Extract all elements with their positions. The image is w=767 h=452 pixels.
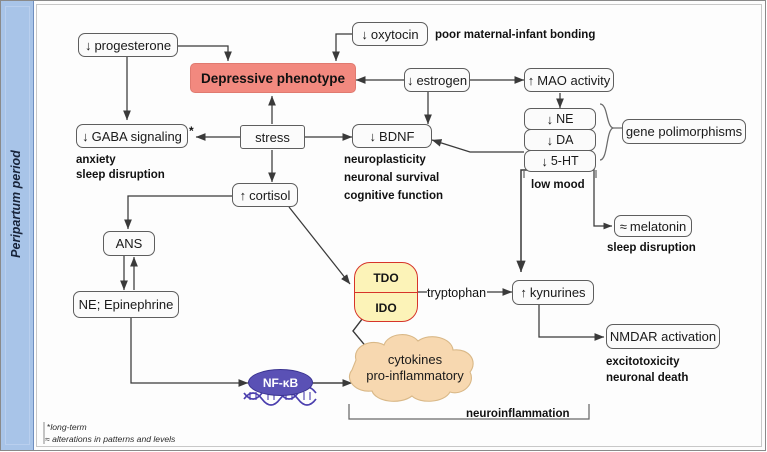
caption-bdnf-effect-2: neuronal survival bbox=[344, 170, 439, 186]
node-cytokines-line2: pro-inflammatory bbox=[366, 368, 464, 384]
down-arrow-icon: ↓ bbox=[407, 74, 414, 87]
node-ido-label: IDO bbox=[355, 293, 417, 322]
node-mao-activity[interactable]: ↑ MAO activity bbox=[524, 68, 614, 92]
node-5ht-label: 5-HT bbox=[551, 154, 579, 168]
footnote-long-term-text: long-term bbox=[50, 422, 86, 432]
node-nmdar-activation[interactable]: NMDAR activation bbox=[606, 324, 720, 349]
edge-label-tryptophan: tryptophan bbox=[427, 285, 486, 303]
node-melatonin[interactable]: ≈ melatonin bbox=[614, 215, 692, 237]
caption-gaba-effect-1: anxiety bbox=[76, 152, 116, 168]
node-da-label: DA bbox=[556, 133, 573, 147]
node-da[interactable]: ↓ DA bbox=[524, 129, 596, 151]
down-arrow-icon: ↓ bbox=[541, 155, 548, 168]
footnote-approx-marker: ≈ bbox=[45, 434, 50, 444]
node-kynurines[interactable]: ↑ kynurines bbox=[512, 280, 594, 305]
peripartum-period-band: Peripartum period bbox=[1, 1, 34, 450]
down-arrow-icon: ↓ bbox=[85, 39, 92, 52]
node-cortisol-label: cortisol bbox=[249, 188, 290, 203]
caption-gaba-effect-2: sleep disruption bbox=[76, 167, 165, 183]
node-tdo-label: TDO bbox=[355, 263, 417, 293]
node-ans-label: ANS bbox=[116, 236, 143, 251]
footnote-alterations-text: alterations in patterns and levels bbox=[52, 434, 175, 444]
caption-nmdar-effect-1: excitotoxicity bbox=[606, 354, 680, 370]
node-cytokines-line1: cytokines bbox=[388, 352, 442, 368]
footnote-alterations: ≈ alterations in patterns and levels bbox=[45, 433, 175, 446]
down-arrow-icon: ↓ bbox=[370, 130, 377, 143]
node-melatonin-label: melatonin bbox=[630, 219, 686, 234]
node-bdnf[interactable]: ↓ BDNF bbox=[352, 124, 432, 148]
node-oxytocin[interactable]: ↓ oxytocin bbox=[352, 22, 428, 46]
node-stress-label: stress bbox=[255, 130, 290, 145]
node-depressive-phenotype[interactable]: Depressive phenotype bbox=[190, 63, 356, 93]
down-arrow-icon: ↓ bbox=[361, 28, 368, 41]
caption-melatonin-effect: sleep disruption bbox=[607, 240, 696, 256]
diagram-canvas: Peripartum period bbox=[0, 0, 767, 452]
node-progesterone[interactable]: ↓ progesterone bbox=[78, 33, 178, 57]
caption-nmdar-effect-2: neuronal death bbox=[606, 370, 688, 386]
caption-bdnf-effect-3: cognitive function bbox=[344, 188, 443, 204]
node-progesterone-label: progesterone bbox=[94, 38, 171, 53]
node-nmdar-activation-label: NMDAR activation bbox=[610, 329, 716, 344]
node-estrogen-label: estrogen bbox=[416, 73, 467, 88]
node-ne-epinephrine[interactable]: NE; Epinephrine bbox=[73, 291, 179, 318]
node-bdnf-label: BDNF bbox=[379, 129, 414, 144]
node-estrogen[interactable]: ↓ estrogen bbox=[404, 68, 470, 92]
gaba-asterisk-marker: * bbox=[189, 124, 194, 138]
node-mao-activity-label: MAO activity bbox=[537, 73, 610, 88]
up-arrow-icon: ↑ bbox=[528, 74, 535, 87]
node-gene-polymorphisms[interactable]: gene polimorphisms bbox=[622, 119, 746, 144]
node-ne-epinephrine-label: NE; Epinephrine bbox=[79, 297, 174, 312]
node-stress[interactable]: stress bbox=[240, 125, 305, 149]
node-5ht[interactable]: ↓ 5-HT bbox=[524, 150, 596, 172]
caption-low-mood: low mood bbox=[531, 177, 585, 193]
down-arrow-icon: ↓ bbox=[82, 130, 89, 143]
node-cytokines-cloud[interactable]: cytokines pro-inflammatory bbox=[345, 330, 485, 406]
down-arrow-icon: ↓ bbox=[547, 134, 554, 147]
up-arrow-icon: ↑ bbox=[520, 286, 527, 299]
node-nf-kb[interactable]: NF-κB bbox=[248, 369, 313, 396]
caption-oxytocin-effect: poor maternal-infant bonding bbox=[435, 27, 595, 43]
node-cortisol[interactable]: ↑ cortisol bbox=[232, 183, 298, 207]
node-gene-polymorphisms-label: gene polimorphisms bbox=[626, 124, 742, 139]
node-ans[interactable]: ANS bbox=[103, 231, 155, 256]
node-oxytocin-label: oxytocin bbox=[371, 27, 419, 42]
peripartum-period-label: Peripartum period bbox=[9, 134, 23, 274]
node-nf-kb-label: NF-κB bbox=[263, 376, 298, 390]
node-ne-label: NE bbox=[556, 112, 573, 126]
node-tdo-ido[interactable]: TDO IDO bbox=[354, 262, 418, 322]
node-gaba-signaling[interactable]: ↓ GABA signaling bbox=[76, 124, 188, 148]
caption-neuroinflammation: neuroinflammation bbox=[466, 406, 570, 422]
approx-symbol-icon: ≈ bbox=[620, 220, 627, 233]
node-gaba-signaling-label: GABA signaling bbox=[92, 129, 182, 144]
down-arrow-icon: ↓ bbox=[547, 113, 554, 126]
caption-bdnf-effect-1: neuroplasticity bbox=[344, 152, 426, 168]
node-kynurines-label: kynurines bbox=[530, 285, 586, 300]
up-arrow-icon: ↑ bbox=[240, 189, 247, 202]
node-ne[interactable]: ↓ NE bbox=[524, 108, 596, 130]
node-depressive-phenotype-label: Depressive phenotype bbox=[201, 71, 345, 86]
